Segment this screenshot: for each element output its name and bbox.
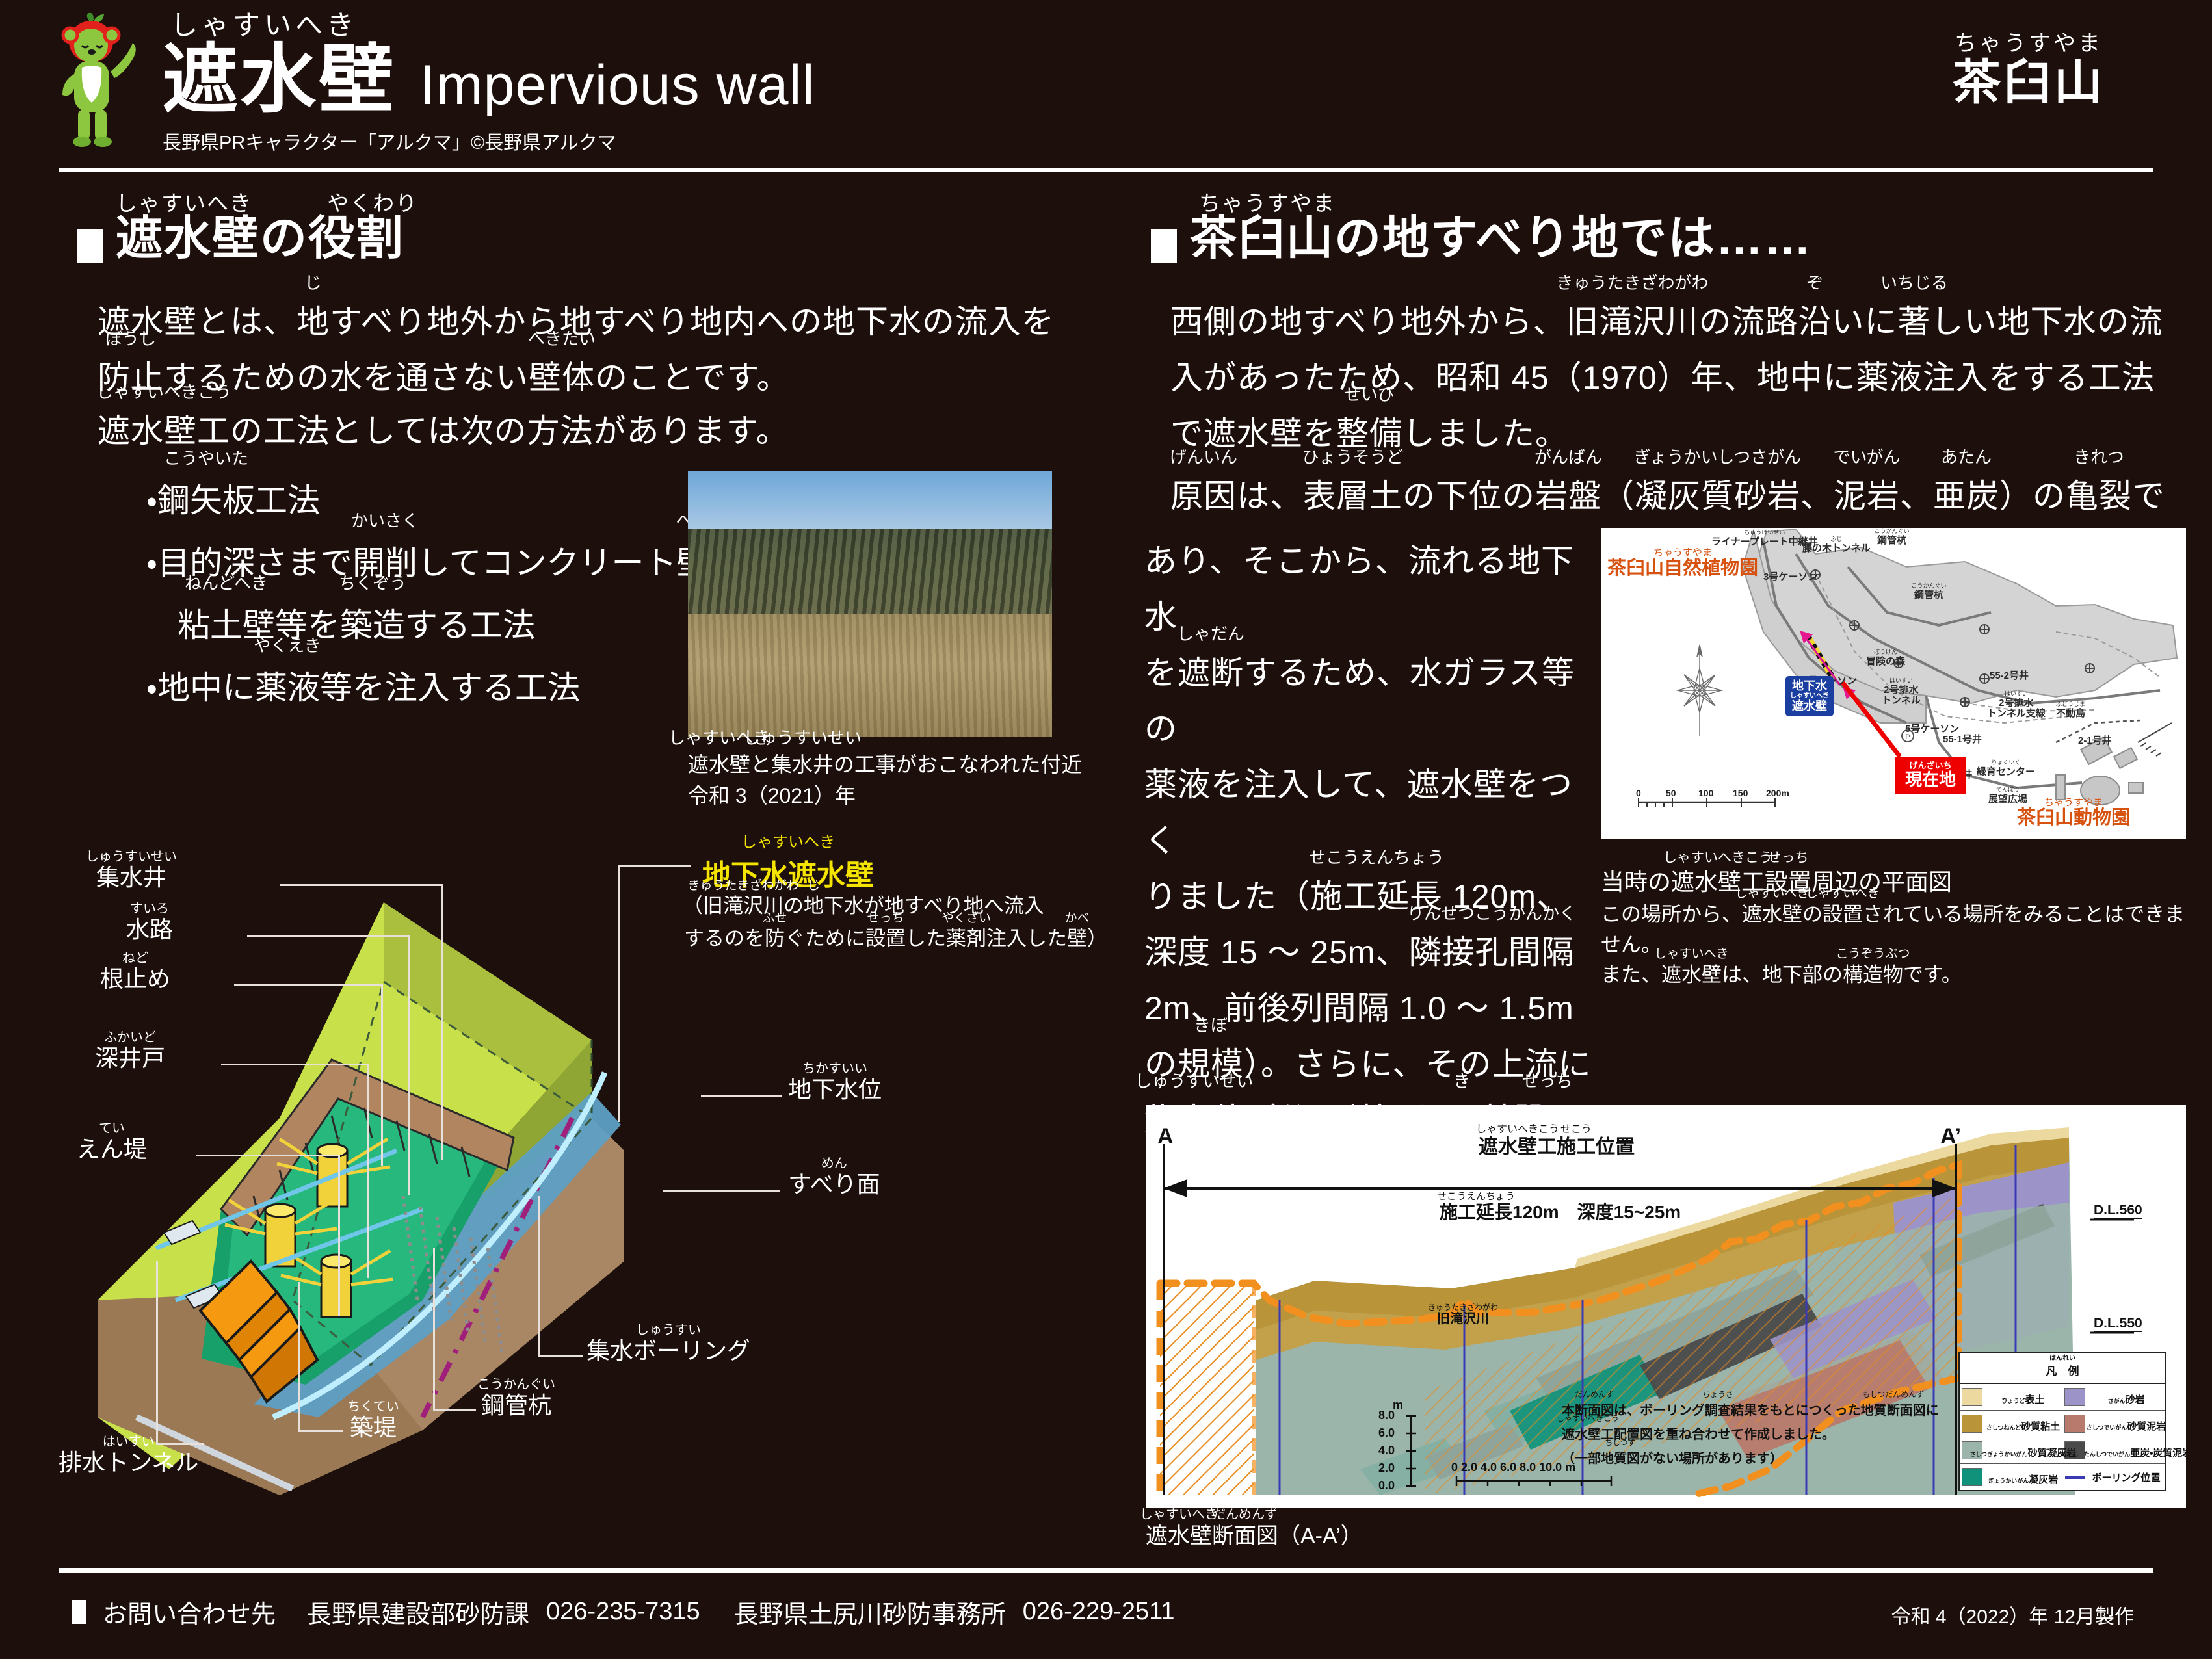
map-label-caisson-5: 5号ケーソン	[1905, 724, 1959, 735]
page-header: しゃすいへき 遮水壁 Impervious wall 長野県PRキャラクター「ア…	[0, 0, 2212, 174]
leader-line	[338, 1155, 340, 1316]
diagram-label-shuusui-boring: しゅうすい集水ボーリング	[586, 1338, 750, 1364]
map-label-steel-pile-1: こうかんぐい鋼管杭	[1877, 536, 1906, 546]
diagram-label-fukaido: ふかいど深井戸	[95, 1045, 165, 1071]
page-title-jp: 遮水壁	[163, 42, 397, 117]
map-caption: 当時のしゃすいへきこう遮水壁工せっち設置周辺の平面図 この場所から、しゃすいへき…	[1601, 865, 2199, 991]
page-title-en: Impervious wall	[420, 57, 815, 117]
xsection-river-label: きゅうたきざわがわ旧滝沢川	[1437, 1312, 1489, 1326]
site-photo	[688, 471, 1052, 737]
cross-section-figure: A A’ しゃすいへきこう遮水壁工せこう施工位置 せこうえんちょう施工延長120…	[1146, 1105, 2186, 1508]
diagram-label-haisui-tunnel: はいすい排水トンネル	[59, 1450, 198, 1476]
contact-tel-2: 026-229-2511	[1023, 1598, 1175, 1626]
cross-section-caption: しゃすいへき遮水壁だんめんず断面図（A-A’）	[1146, 1521, 1363, 1552]
xsection-vscale-6: 6.0	[1378, 1427, 1395, 1440]
leader-line	[156, 1261, 158, 1444]
diagram-label-suiro: すいろ水路	[126, 917, 173, 943]
leader-line	[618, 865, 620, 1122]
photo-tree-region	[688, 529, 1052, 620]
left-heading-text: 遮水壁の役割	[116, 215, 404, 264]
alkuma-mascot-icon	[51, 12, 142, 155]
brand-ruby: ちゃうすやま	[1953, 33, 2105, 55]
leader-line	[663, 1190, 780, 1192]
text-line: 深度 15 ～ 25m、りんせつこうかんかく隣接孔間隔	[1144, 924, 1600, 980]
diagram-label-entei: ていえん堤	[77, 1136, 147, 1162]
leader-line	[381, 984, 383, 1166]
map-label-drain-tunnel-2: はいすい2号排水トンネル	[1882, 685, 1921, 706]
map-label-steel-pile-2: こうかんぐい鋼管杭	[1914, 590, 1943, 601]
leader-line	[618, 865, 691, 867]
xsection-legend: はんれい 凡 例 ひょうど表土 さがん砂岩 さしつねんど砂質粘土 さしつでいがん…	[1958, 1352, 2166, 1491]
callout-description-line2: するのをふせ防ぐためにせっち設置したやくざい薬剤注入したかべ壁）	[684, 924, 1107, 954]
header-divider	[59, 168, 2153, 172]
leader-line	[298, 1282, 300, 1431]
leader-line	[433, 1409, 476, 1411]
leader-line	[298, 1430, 343, 1432]
bullet-square-icon	[72, 1600, 86, 1624]
left-heading-ruby-2: やくわり	[327, 191, 418, 215]
map-label-well-55-1: 55-1号井	[1943, 735, 1982, 745]
xsection-marker-a-prime: A’	[1940, 1125, 1961, 1149]
photo-caption-year: 令和 3（2021）年	[688, 780, 1104, 811]
left-paragraph-1: 遮水壁とは、じ地すべり地外から地すべり地内への地下水の流入をぼうし防止するための…	[98, 294, 1060, 406]
diagram-label-koukangui: こうかんぐい鋼管杭	[481, 1392, 551, 1418]
leader-line	[196, 1155, 339, 1156]
xsection-marker-a: A	[1157, 1125, 1174, 1149]
map-label-observation-plaza: てんぼう展望広場	[1988, 794, 2027, 805]
footer-production-date: 令和 4（2022）年 12月製作	[1891, 1600, 2134, 1629]
map-caption-line2: また、しゃすいへき遮水壁は、地下部のこうぞうぶつ構造物です。	[1601, 960, 2199, 991]
legend-grid: ひょうど表土 さがん砂岩 さしつねんど砂質粘土 さしつでいがん砂質泥岩 さしつぎ…	[1960, 1384, 2165, 1490]
right-heading-ruby: ちゃうすやま	[1199, 192, 1336, 214]
leader-line	[156, 1443, 204, 1445]
diagram-label-chikutei: ちくてい築堤	[350, 1415, 397, 1441]
right-paragraph-2-line1: げんいん原因は、ひょうそうど表層土の下位のがんばん岩盤（ぎょうかいしつさがん凝灰…	[1170, 468, 2165, 524]
map-chip-impervious-wall: 地下水 しゃすいへき 遮水壁	[1785, 676, 1834, 716]
xsection-vscale-8: 8.0	[1378, 1409, 1395, 1422]
xsection-dl-550: D.L.550	[2094, 1316, 2142, 1332]
contact-tel-1: 026-235-7315	[546, 1598, 700, 1626]
leader-line	[367, 1064, 369, 1278]
left-section-heading: しゃすいへき やくわり 遮水壁の役割	[77, 215, 404, 264]
contact-org-2: 長野県土尻川砂防事務所	[734, 1594, 1006, 1630]
map-label-botanical-garden: ちゃうすやま茶臼山自然植物園	[1607, 559, 1758, 578]
xsection-note: 本だんめんず断面図は、ボーリングちょうさ調査結果をもとにつくったもしつだんめんず…	[1562, 1399, 1939, 1471]
leader-line	[701, 1095, 782, 1097]
leader-line	[441, 884, 443, 1160]
leader-line	[280, 884, 442, 886]
map-label-green-center: りょくいく緑育センター	[1977, 767, 2035, 777]
map-label-drain-tunnel-branch: はいすい2号排水しせんトンネル支線	[1987, 698, 2046, 719]
poster-root: しゃすいへき 遮水壁 Impervious wall 長野県PRキャラクター「ア…	[0, 0, 2212, 1659]
right-section-heading: ちゃうすやま 茶臼山の地すべり地では……	[1151, 215, 1812, 264]
diagram-label-nedome: ねど根止め	[100, 966, 170, 992]
brand-label: 茶臼山	[1953, 57, 2105, 108]
left-heading-ruby-1: しゃすいへき	[116, 191, 252, 215]
legend-title: はんれい 凡 例	[1960, 1353, 2165, 1384]
map-label-adventure-forest: ぼうけん冒険の森	[1866, 657, 1905, 667]
mascot-credit: 長野県PRキャラクター「アルクマ」©長野県アルクマ	[163, 127, 815, 155]
leader-line	[221, 1064, 368, 1065]
diagram-label-shuusuisei: しゅうすいせい集水井	[96, 865, 166, 891]
bullet-square-icon	[77, 229, 103, 263]
map-label-fuji-tunnel: ふじ藤の木トンネル	[1802, 543, 1871, 554]
contact-label: お問い合わせ先	[103, 1594, 276, 1630]
leader-line	[234, 984, 382, 986]
map-marker-current-location: げんざいち 現在地	[1895, 757, 1966, 794]
footer-contact: お問い合わせ先 長野県建設部砂防課 026-235-7315 長野県土尻川砂防事…	[72, 1594, 1175, 1630]
map-caption-title: 当時のしゃすいへきこう遮水壁工せっち設置周辺の平面図	[1601, 865, 2199, 900]
leader-line	[433, 1248, 435, 1411]
map-label-caisson-3: 3号ケーソン	[1763, 572, 1817, 582]
leader-line	[538, 1196, 540, 1356]
contact-org-1: 長野県建設部砂防課	[307, 1594, 529, 1630]
right-paragraph-1: 西側の地すべり地外から、きゅうたきざわがわ旧滝沢川の流路ぞ沿いにいちじる著しい地…	[1170, 294, 2165, 462]
brand-chausuyama: ちゃうすやま 茶臼山	[1953, 33, 2105, 108]
map-label-well-55-2: 55-2号井	[1990, 671, 2029, 681]
map-label-well-2-1: 2-1号井	[2078, 736, 2112, 746]
text-line: をしゃだん遮断するため、水ガラス等の	[1144, 645, 1600, 757]
photo-ground-region	[688, 614, 1052, 737]
xsection-vscale-0: 0.0	[1378, 1480, 1395, 1493]
leader-line	[247, 935, 410, 937]
xsection-dl-560: D.L.560	[2094, 1203, 2142, 1219]
leader-line	[538, 1355, 583, 1357]
isometric-diagram: しゅうすいせい集水井 すいろ水路 ねど根止め ふかいど深井戸 ていえん堤 はいす…	[59, 845, 1073, 1534]
title-block: しゃすいへき 遮水壁 Impervious wall 長野県PRキャラクター「ア…	[163, 12, 815, 155]
right-heading-text: 茶臼山の地すべり地では……	[1190, 215, 1812, 264]
footer-divider	[59, 1568, 2153, 1573]
map-label-fudoujima: ふどうじま不動島	[2056, 709, 2085, 719]
xsection-hscale: 0 2.0 4.0 6.0 8.0 10.0 m	[1451, 1461, 1575, 1474]
diagram-label-suberimen: めんすべり面	[788, 1171, 880, 1197]
leader-line	[408, 935, 410, 1195]
xsection-vscale-2: 2.0	[1378, 1462, 1395, 1475]
diagram-label-chikasuii: ちかすいい地下水位	[788, 1077, 882, 1103]
map-label-zoo: ちゃうすやま茶臼山動物園	[2017, 809, 2130, 828]
bullet-square-icon	[1151, 229, 1177, 263]
xsection-subtitle: せこうえんちょう施工延長120m 深度15~25m	[1440, 1203, 1681, 1223]
location-map: P P ちゃうすやま茶臼山自然植物園 ちゃうすやま茶臼山動物園 ちゅうけいせいラ…	[1601, 528, 2186, 839]
xsection-title: しゃすいへきこう遮水壁工せこう施工位置	[1479, 1136, 1635, 1158]
photo-caption: しゃすいへき遮水壁としゅうすいせい集水井の工事がおこなわれた付近 令和 3（20…	[688, 749, 1104, 811]
title-ruby: しゃすいへき	[170, 12, 815, 39]
xsection-vscale-4: 4.0	[1378, 1444, 1395, 1457]
